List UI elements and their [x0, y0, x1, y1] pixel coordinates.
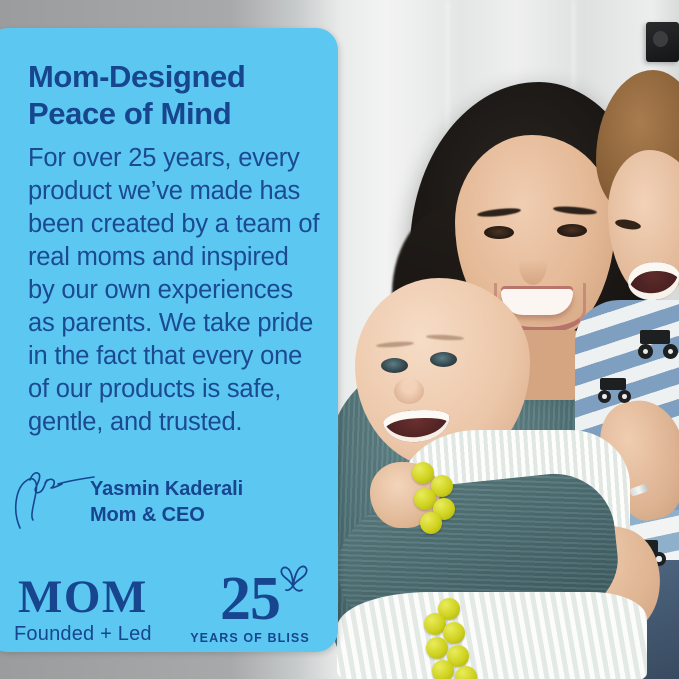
wall-outlet [646, 22, 679, 62]
signature-name-group: Yasmin Kaderali Mom & CEO [90, 476, 243, 528]
anniversary-logo: 25 YEARS OF BLISS [186, 568, 314, 645]
baby-legs [337, 592, 647, 679]
teether-bead [426, 637, 448, 659]
signature-block: Yasmin Kaderali Mom & CEO [14, 468, 314, 538]
logo-row: MOM Founded + Led 25 YEARS OF BLI [14, 568, 314, 658]
truck-print [600, 378, 626, 390]
mother-eye-left [484, 226, 514, 239]
baby-nose [394, 378, 424, 404]
teether-bead [443, 622, 465, 644]
baby-eye-right [430, 352, 457, 367]
body-paragraph: For over 25 years, every product we’ve m… [28, 132, 320, 439]
page-title: Mom-Designed Peace of Mind [28, 28, 320, 132]
anniversary-tagline: YEARS OF BLISS [186, 631, 314, 645]
truck-wheel [638, 344, 653, 359]
truck-print [640, 330, 670, 344]
truck-wheel [598, 390, 611, 403]
teether-bead [432, 660, 454, 679]
mom-founded-led-logo: MOM Founded + Led [14, 574, 152, 646]
anniversary-number: 25 [220, 568, 280, 630]
mother-nose [519, 243, 547, 285]
mom-wordmark: MOM [14, 574, 152, 620]
mother-eye-right [557, 224, 587, 237]
teether-bead [420, 512, 442, 534]
testimonial-card: Mom-Designed Peace of Mind For over 25 y… [0, 28, 338, 652]
anniversary-number-text: 25 [220, 565, 280, 633]
teether-bead [412, 462, 434, 484]
author-name: Yasmin Kaderali [90, 476, 243, 502]
baby-eye-left [381, 358, 408, 373]
butterfly-icon [276, 562, 310, 596]
author-title: Mom & CEO [90, 502, 243, 528]
lifestyle-brand-banner: Mom-Designed Peace of Mind For over 25 y… [0, 0, 679, 679]
mom-tagline: Founded + Led [14, 622, 152, 646]
truck-wheel [663, 344, 678, 359]
